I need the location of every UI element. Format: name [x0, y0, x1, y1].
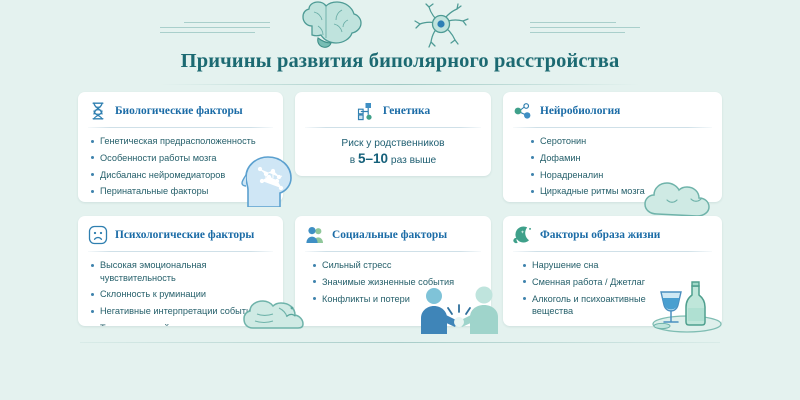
card-title: Факторы образа жизни: [540, 229, 660, 241]
card-header: Биологические факторы: [78, 92, 283, 122]
list-item: Норадреналин: [531, 169, 712, 182]
bottom-divider: [80, 342, 720, 343]
list-item: Особенности работы мозга: [91, 152, 273, 165]
title-divider: [160, 84, 640, 85]
genetics-prefix: в: [350, 155, 358, 166]
card-title: Нейробиология: [540, 105, 620, 117]
card-bullet-list: Серотонин Дофамин Норадреналин Циркадные…: [503, 128, 722, 198]
card-header: Генетика: [295, 92, 491, 122]
sad-face-icon: [88, 225, 108, 245]
header: [0, 0, 800, 52]
card-header: Психологические факторы: [78, 216, 283, 246]
list-item: Дофамин: [531, 152, 712, 165]
page-title: Причины развития биполярного расстройств…: [0, 50, 800, 73]
brain-and-neuron-icon: [296, 0, 504, 50]
list-item: Перинатальные факторы: [91, 185, 273, 198]
genetics-lead: Риск у родственников: [305, 136, 481, 151]
card-neurobiology[interactable]: Нейробиология Серотонин Дофамин Норадрен…: [503, 92, 722, 202]
infographic-canvas: Причины развития биполярного расстройств…: [0, 0, 800, 400]
list-item: Сильный стресс: [313, 259, 481, 272]
decorative-lines-right-icon: [530, 22, 640, 36]
list-item: Конфликты и потери: [313, 293, 481, 306]
card-bullet-list: Сильный стресс Значимые жизненные событи…: [295, 252, 491, 305]
card-title: Психологические факторы: [115, 229, 254, 241]
card-social[interactable]: Социальные факторы Сильный стресс Значим…: [295, 216, 491, 326]
list-item: Дисбаланс нейромедиаторов: [91, 169, 273, 182]
genetics-risk-text: Риск у родственников в 5–10 раз выше: [295, 128, 491, 168]
list-item: Нарушение сна: [523, 259, 662, 272]
list-item: Сменная работа / Джетлаг: [523, 276, 662, 289]
card-header: Нейробиология: [503, 92, 722, 122]
card-header: Социальные факторы: [295, 216, 491, 246]
card-title: Биологические факторы: [115, 105, 243, 117]
card-bullet-list: Нарушение сна Сменная работа / Джетлаг А…: [503, 252, 722, 318]
list-item: Значимые жизненные события: [313, 276, 481, 289]
list-item: Алкоголь и психоактивные вещества: [523, 293, 662, 318]
card-psychological[interactable]: Психологические факторы Высокая эмоциона…: [78, 216, 283, 326]
two-people-icon: [305, 225, 325, 245]
card-bullet-list: Генетическая предрасположенность Особенн…: [78, 128, 283, 198]
family-tree-icon: [356, 101, 376, 121]
list-item: Склонность к руминации: [91, 288, 273, 301]
genetics-suffix: раз выше: [388, 155, 436, 166]
card-bullet-list: Высокая эмоциональная чувствительность С…: [78, 252, 283, 326]
list-item: Высокая эмоциональная чувствительность: [91, 259, 273, 284]
dna-icon: [88, 101, 108, 121]
list-item: Генетическая предрасположенность: [91, 135, 273, 148]
list-item: Циркадные ритмы мозга: [531, 185, 712, 198]
moon-icon: [513, 225, 533, 245]
list-item: Травматический опыт: [91, 322, 273, 326]
card-title: Социальные факторы: [332, 229, 447, 241]
card-title: Генетика: [383, 105, 430, 117]
molecule-icon: [513, 101, 533, 121]
card-genetics[interactable]: Генетика Риск у родственников в 5–10 раз…: [295, 92, 491, 176]
list-item: Серотонин: [531, 135, 712, 148]
genetics-value: 5–10: [358, 151, 388, 166]
list-item: Негативные интерпретации событий: [91, 305, 273, 318]
card-header: Факторы образа жизни: [503, 216, 722, 246]
card-lifestyle[interactable]: Факторы образа жизни Нарушение сна Сменн…: [503, 216, 722, 326]
decorative-lines-left-icon: [160, 22, 270, 36]
card-biological[interactable]: Биологические факторы Генетическая предр…: [78, 92, 283, 202]
